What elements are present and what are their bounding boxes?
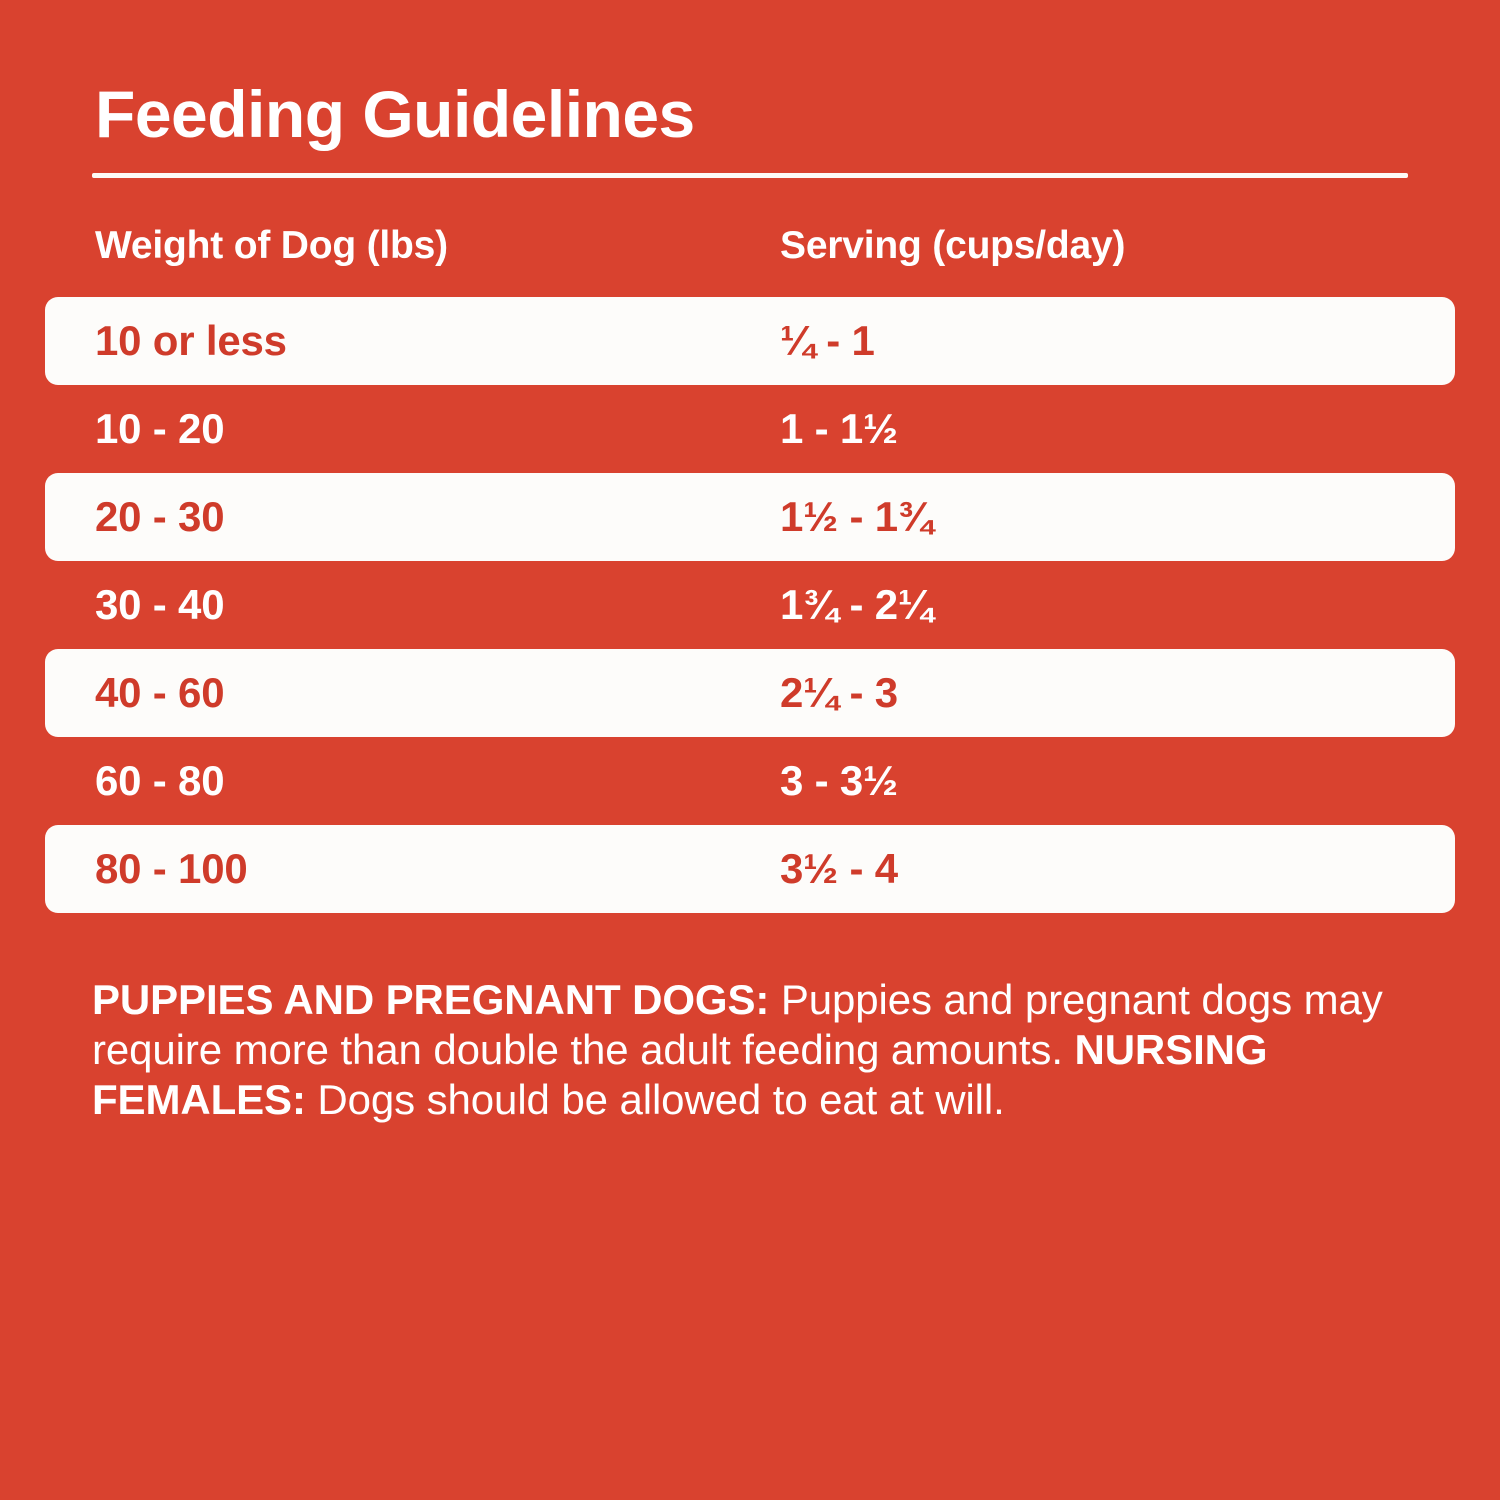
feeding-guidelines-panel: Feeding Guidelines Weight of Dog (lbs) S… [0,0,1500,1500]
feeding-table: 10 or less¼ - 110 - 201 - 1½20 - 301½ - … [0,297,1500,913]
footnote-nursing-text: Dogs should be allowed to eat at will. [306,1076,1005,1123]
table-row: 20 - 301½ - 1¾ [0,473,1500,561]
table-row-background [45,649,1455,737]
table-row-background [45,385,1455,473]
table-row: 40 - 602¼ - 3 [0,649,1500,737]
table-row-background [45,737,1455,825]
table-row-background [45,473,1455,561]
cell-weight: 30 - 40 [95,561,224,649]
cell-weight: 10 - 20 [95,385,224,473]
cell-serving: 3 - 3½ [780,737,898,825]
table-row-background [45,825,1455,913]
page-title: Feeding Guidelines [95,79,695,149]
cell-serving: 1½ - 1¾ [780,473,933,561]
cell-weight: 20 - 30 [95,473,224,561]
cell-serving: 1 - 1½ [780,385,898,473]
table-row: 80 - 1003½ - 4 [0,825,1500,913]
cell-serving: 3½ - 4 [780,825,898,913]
footnote-text: PUPPIES AND PREGNANT DOGS: Puppies and p… [92,975,1442,1125]
table-column-headers: Weight of Dog (lbs) Serving (cups/day) [0,222,1500,276]
table-row: 30 - 401¾ - 2¼ [0,561,1500,649]
cell-weight: 60 - 80 [95,737,224,825]
cell-weight: 10 or less [95,297,287,385]
column-header-serving: Serving (cups/day) [780,222,1125,270]
column-header-weight: Weight of Dog (lbs) [95,222,448,270]
table-row: 10 or less¼ - 1 [0,297,1500,385]
title-divider [92,173,1408,178]
table-row: 10 - 201 - 1½ [0,385,1500,473]
cell-serving: ¼ - 1 [780,297,875,385]
table-row-background [45,561,1455,649]
cell-weight: 40 - 60 [95,649,224,737]
table-row: 60 - 803 - 3½ [0,737,1500,825]
footnote-puppies-label: PUPPIES AND PREGNANT DOGS: [92,976,769,1023]
cell-serving: 2¼ - 3 [780,649,898,737]
cell-weight: 80 - 100 [95,825,248,913]
cell-serving: 1¾ - 2¼ [780,561,933,649]
